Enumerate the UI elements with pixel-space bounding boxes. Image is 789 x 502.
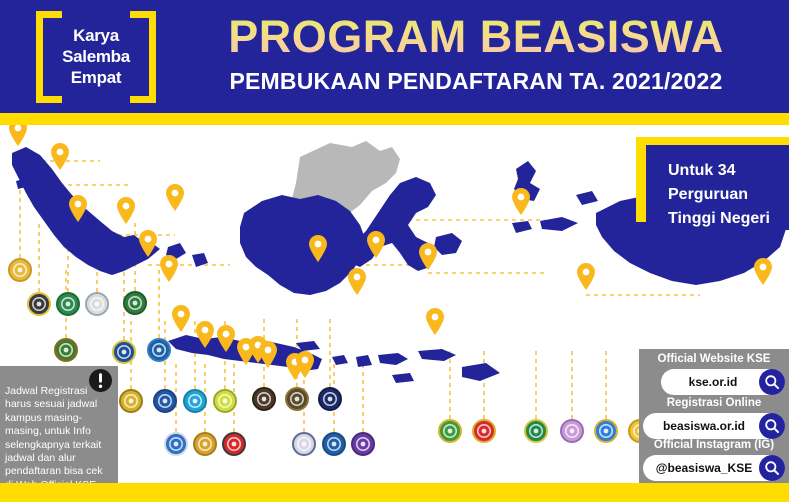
map-pin[interactable]: [753, 258, 773, 285]
contact-label: Official Website KSE: [639, 353, 789, 365]
university-logo[interactable]: [594, 419, 618, 443]
university-logo[interactable]: [292, 432, 316, 456]
timor-island: [462, 363, 500, 381]
university-logo[interactable]: [85, 292, 109, 316]
contact-panel: Official Website KSEkse.or.idRegistrasi …: [639, 349, 789, 483]
callout-text: Untuk 34PerguruanTinggi Negeri: [668, 159, 789, 231]
kse-logo: KaryaSalembaEmpat: [36, 11, 156, 103]
university-logo[interactable]: [322, 432, 346, 456]
map-pin[interactable]: [138, 230, 158, 257]
map-pin[interactable]: [366, 231, 386, 258]
university-logo[interactable]: [560, 419, 584, 443]
bottom-accent-bar: [0, 483, 789, 502]
header-banner: KaryaSalembaEmpat PROGRAM BEASISWA PEMBU…: [0, 0, 789, 113]
header-accent-stripe: [0, 113, 789, 125]
university-logo[interactable]: [112, 340, 136, 364]
exclamation-circle-icon: [88, 368, 113, 393]
university-logo[interactable]: [119, 389, 143, 413]
page-subtitle: PEMBUKAAN PENDAFTARAN TA. 2021/2022: [176, 68, 776, 95]
page-title: PROGRAM BEASISWA: [176, 9, 776, 65]
seram-island: [540, 217, 578, 231]
university-logo[interactable]: [524, 419, 548, 443]
contact-field[interactable]: kse.or.id: [661, 369, 785, 395]
university-logo[interactable]: [153, 389, 177, 413]
map-pin[interactable]: [258, 341, 278, 368]
map-pin[interactable]: [308, 235, 328, 262]
map-pin[interactable]: [195, 321, 215, 348]
university-logo[interactable]: [285, 387, 309, 411]
university-logo[interactable]: [147, 338, 171, 362]
contact-label: Registrasi Online: [639, 397, 789, 409]
university-logo[interactable]: [54, 338, 78, 362]
map-pin[interactable]: [50, 143, 70, 170]
map-pin[interactable]: [418, 243, 438, 270]
map-pin[interactable]: [347, 268, 367, 295]
map-pin[interactable]: [8, 125, 28, 146]
sulawesi-southeast: [434, 233, 462, 255]
search-icon[interactable]: [759, 413, 785, 439]
map-pin[interactable]: [295, 351, 315, 378]
university-logo[interactable]: [8, 258, 32, 282]
university-logo[interactable]: [164, 432, 188, 456]
callout-panel: Untuk 34PerguruanTinggi Negeri: [646, 145, 789, 230]
contact-value: @beasiswa_KSE: [643, 461, 759, 475]
bali-island: [332, 355, 348, 365]
map-pin[interactable]: [159, 255, 179, 282]
note-text: Jadwal Registrasi harus sesuai jadwal ka…: [5, 385, 113, 492]
lombok-island: [356, 355, 372, 367]
university-logo[interactable]: [56, 292, 80, 316]
university-logo[interactable]: [318, 387, 342, 411]
university-logo[interactable]: [123, 291, 147, 315]
map-pin[interactable]: [171, 305, 191, 332]
buru-island: [512, 221, 532, 233]
map-pin[interactable]: [165, 184, 185, 211]
callout-box: Untuk 34PerguruanTinggi Negeri: [636, 137, 789, 230]
poster-root: KaryaSalembaEmpat PROGRAM BEASISWA PEMBU…: [0, 0, 789, 502]
contact-value: kse.or.id: [661, 375, 759, 389]
contact-label: Official Instagram (IG): [639, 439, 789, 451]
sumba-island: [392, 373, 414, 383]
map-pin[interactable]: [425, 308, 445, 335]
university-logo[interactable]: [438, 419, 462, 443]
contact-field[interactable]: beasiswa.or.id: [643, 413, 785, 439]
university-logo[interactable]: [252, 387, 276, 411]
contact-field[interactable]: @beasiswa_KSE: [643, 455, 785, 481]
search-icon[interactable]: [759, 455, 785, 481]
contact-value: beasiswa.or.id: [643, 419, 759, 433]
university-logo[interactable]: [222, 432, 246, 456]
university-logo[interactable]: [351, 432, 375, 456]
university-logo[interactable]: [27, 292, 51, 316]
map-pin[interactable]: [216, 325, 236, 352]
university-logo[interactable]: [183, 389, 207, 413]
sumbawa-island: [378, 353, 408, 365]
map-pin[interactable]: [116, 197, 136, 224]
map-pin[interactable]: [68, 195, 88, 222]
university-logo[interactable]: [213, 389, 237, 413]
map-pin[interactable]: [511, 188, 531, 215]
kse-logo-text: KaryaSalembaEmpat: [56, 25, 136, 88]
map-pin[interactable]: [576, 263, 596, 290]
papua-islands: [576, 191, 598, 205]
university-logo[interactable]: [472, 419, 496, 443]
university-logo[interactable]: [193, 432, 217, 456]
search-icon[interactable]: [759, 369, 785, 395]
